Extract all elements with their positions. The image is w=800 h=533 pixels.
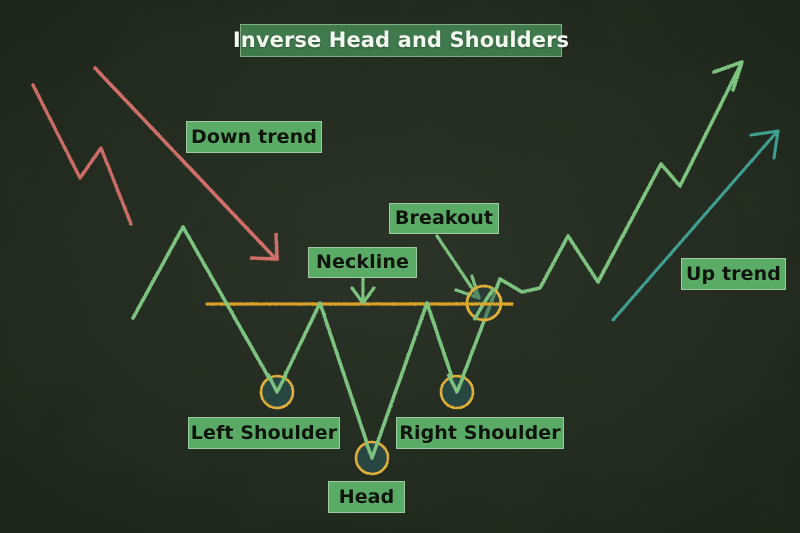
page-title: Inverse Head and Shoulders xyxy=(240,24,562,57)
head-label: Head xyxy=(328,481,405,513)
neckline-label: Neckline xyxy=(308,247,417,278)
price-line-arrowhead xyxy=(714,62,742,90)
downtrend-label: Down trend xyxy=(186,121,322,153)
downtrend-zigzag xyxy=(33,85,131,224)
left-shoulder-label: Left Shoulder xyxy=(188,417,340,449)
right-shoulder-label: Right Shoulder xyxy=(396,417,564,449)
breakout-label: Breakout xyxy=(389,203,499,234)
chalkboard-diagram: Inverse Head and Shoulders Down trend Ne… xyxy=(0,0,800,533)
uptrend-label: Up trend xyxy=(681,258,786,290)
neckline-pointer-arrow xyxy=(352,279,374,303)
uptrend-arrow xyxy=(613,131,778,320)
